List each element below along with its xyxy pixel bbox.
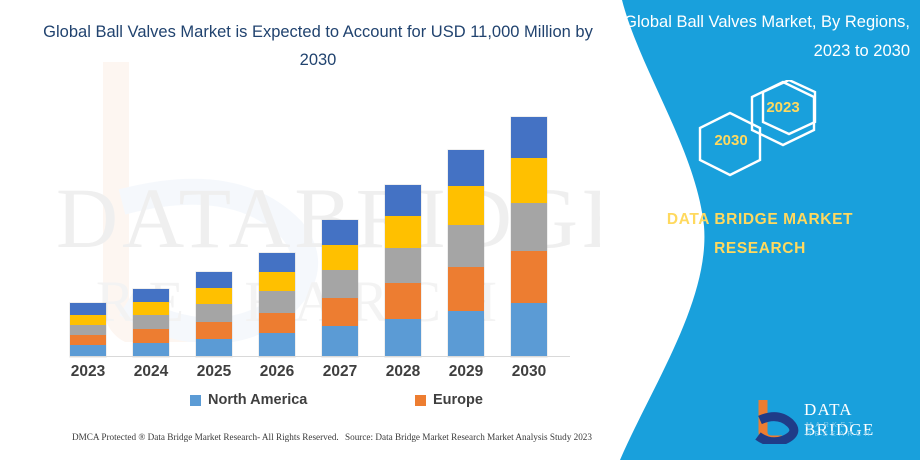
x-axis-label-2030: 2030 [499,363,559,381]
bar-segment-2027-series-3 [322,270,358,298]
bar-segment-2030-north-america [511,303,547,357]
bar-2023 [70,303,106,357]
bar-2026 [259,253,295,357]
bar-segment-2026-series-4 [259,272,295,291]
bar-segment-2023-series-5 [70,303,106,315]
x-axis-label-2027: 2027 [310,363,370,381]
legend-item-europe[interactable]: Europe [415,392,483,408]
legend-label: North America [208,392,307,408]
panel-title: Global Ball Valves Market, By Regions, 2… [618,8,910,66]
bar-segment-2023-series-4 [70,315,106,325]
bar-segment-2025-north-america [196,339,232,357]
x-axis-line [70,356,570,357]
chart-legend: North AmericaEurope [70,392,570,414]
bar-segment-2028-series-5 [385,185,421,216]
bar-segment-2029-series-3 [448,225,484,267]
bar-segment-2028-series-3 [385,248,421,283]
brand-name-line-2: RESEARCH [610,234,910,263]
x-axis-label-2029: 2029 [436,363,496,381]
bar-segment-2024-series-4 [133,302,169,315]
bar-2029 [448,150,484,357]
bar-segment-2028-north-america [385,319,421,357]
bar-segment-2028-series-4 [385,216,421,248]
bar-2024 [133,289,169,357]
bar-segment-2030-series-4 [511,158,547,203]
brand-name: DATA BRIDGE MARKET RESEARCH [610,205,910,263]
bar-chart-plot [70,100,580,357]
bar-segment-2030-series-3 [511,203,547,251]
bar-2028 [385,185,421,357]
legend-swatch-icon [415,395,426,406]
bar-segment-2023-europe [70,335,106,345]
bar-segment-2026-europe [259,313,295,333]
bar-2025 [196,272,232,357]
bar-segment-2029-series-4 [448,186,484,225]
bar-segment-2030-series-5 [511,117,547,158]
x-axis-labels: 20232024202520262027202820292030 [70,363,570,389]
bar-2030 [511,117,547,357]
x-axis-label-2024: 2024 [121,363,181,381]
bar-segment-2024-series-5 [133,289,169,302]
x-axis-label-2025: 2025 [184,363,244,381]
bar-segment-2025-europe [196,322,232,339]
bar-segment-2027-europe [322,298,358,326]
bar-segment-2024-europe [133,329,169,343]
x-axis-label-2023: 2023 [58,363,118,381]
footer-copyright: DMCA Protected ® Data Bridge Market Rese… [72,432,339,442]
legend-swatch-icon [190,395,201,406]
bar-segment-2028-europe [385,283,421,319]
infographic-canvas: DATABRIDGE RESEARCH Global Ball Valves M… [0,0,920,460]
bar-segment-2025-series-3 [196,304,232,322]
bar-segment-2026-series-3 [259,291,295,313]
dbmr-logo-subtitle: MARKET RESEARCH [806,420,912,438]
legend-item-north-america[interactable]: North America [190,392,307,408]
bar-segment-2024-series-3 [133,315,169,329]
bar-2027 [322,220,358,357]
bar-segment-2027-series-5 [322,220,358,245]
chart-card: DATABRIDGE RESEARCH Global Ball Valves M… [0,0,640,460]
bar-segment-2030-europe [511,251,547,303]
bar-segment-2026-series-5 [259,253,295,272]
bar-segment-2027-north-america [322,326,358,357]
x-axis-label-2028: 2028 [373,363,433,381]
bar-segment-2029-north-america [448,311,484,357]
bar-segment-2026-north-america [259,333,295,357]
footer-source: Source: Data Bridge Market Research Mark… [345,432,592,442]
brand-name-line-1: DATA BRIDGE MARKET [610,205,910,234]
bar-segment-2029-series-5 [448,150,484,186]
brand-panel: Global Ball Valves Market, By Regions, 2… [600,0,920,460]
legend-label: Europe [433,392,483,408]
bar-segment-2025-series-5 [196,272,232,288]
dbmr-logo: DATA BRIDGE MARKET RESEARCH [752,398,912,446]
bar-segment-2029-europe [448,267,484,311]
footer: DMCA Protected ® Data Bridge Market Rese… [0,432,640,454]
bar-segment-2025-series-4 [196,288,232,304]
bar-segment-2023-series-3 [70,325,106,335]
hex-label-2023: 2023 [748,99,818,116]
page-title: Global Ball Valves Market is Expected to… [38,18,598,74]
bar-segment-2024-north-america [133,343,169,357]
x-axis-label-2026: 2026 [247,363,307,381]
bar-segment-2027-series-4 [322,245,358,270]
dbmr-logo-mark-icon [752,398,802,444]
hexagon-group: 2030 2023 [600,80,920,200]
hex-label-2030: 2030 [696,132,766,149]
